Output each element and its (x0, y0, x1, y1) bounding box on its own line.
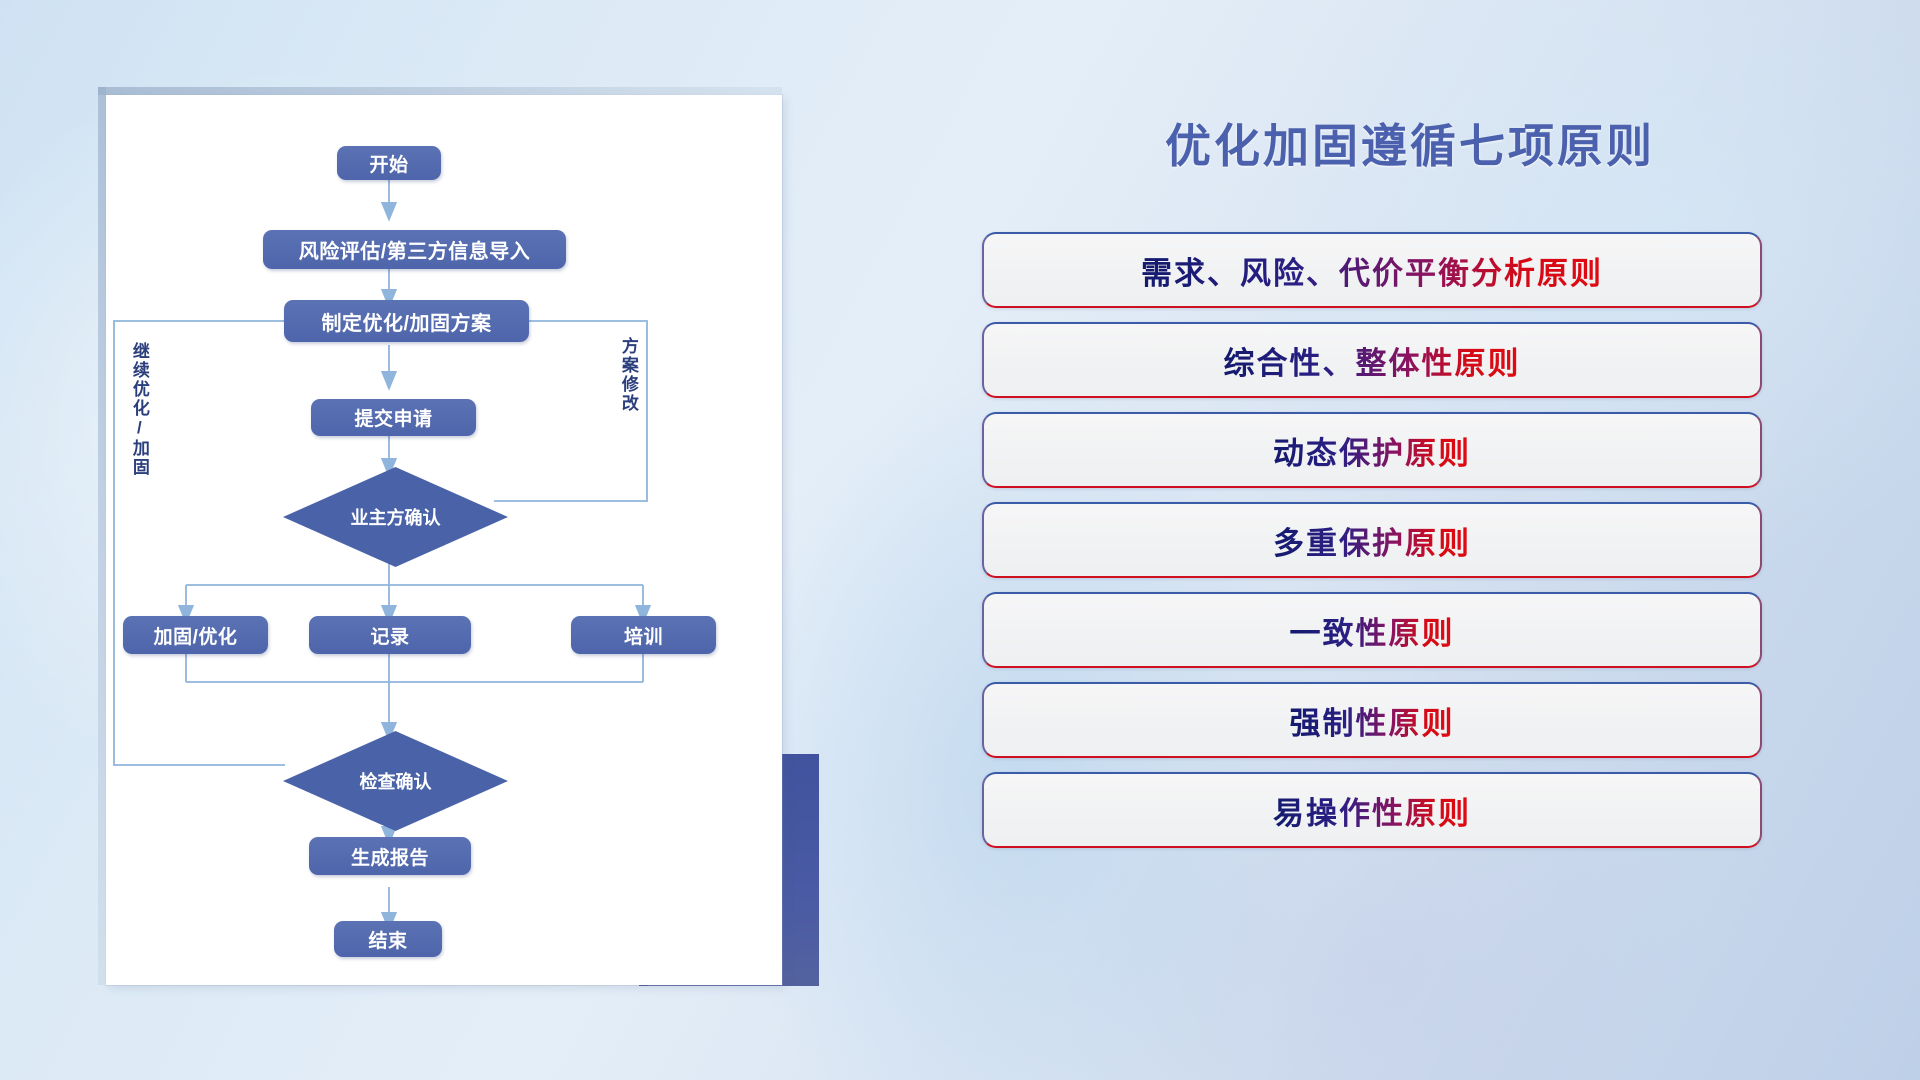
principle-card-6[interactable]: 强制性原则 (982, 682, 1762, 758)
flowchart-panel: 开始 风险评估/第三方信息导入 制定优化/加固方案 提交申请 业主方确认 加固/… (0, 0, 860, 1080)
flow-node-record-label: 记录 (370, 622, 409, 649)
flow-node-record[interactable]: 记录 (309, 616, 471, 654)
principles-list: 需求、风险、代价平衡分析原则 综合性、整体性原则 动态保护原则 多重保护原则 一… (842, 232, 1902, 862)
flow-node-reinforce-label: 加固/优化 (154, 622, 238, 649)
principle-card-2-label: 综合性、整体性原则 (1224, 338, 1521, 383)
flow-node-risk-assessment-label: 风险评估/第三方信息导入 (299, 235, 531, 264)
principle-card-3[interactable]: 动态保护原则 (982, 412, 1762, 488)
flowchart-card: 开始 风险评估/第三方信息导入 制定优化/加固方案 提交申请 业主方确认 加固/… (106, 95, 782, 985)
flow-node-plan-label: 制定优化/加固方案 (321, 307, 491, 336)
principle-card-7-label: 易操作性原则 (1273, 788, 1471, 833)
flow-node-start-label: 开始 (369, 150, 408, 177)
principle-card-5-label: 一致性原则 (1290, 608, 1455, 653)
principle-card-1[interactable]: 需求、风险、代价平衡分析原则 (982, 232, 1762, 308)
flow-node-check-confirm-label: 检查确认 (360, 768, 432, 794)
principles-panel: 优化加固遵循七项原则 需求、风险、代价平衡分析原则 综合性、整体性原则 动态保护… (860, 0, 1920, 1080)
principle-card-4[interactable]: 多重保护原则 (982, 502, 1762, 578)
principle-card-1-label: 需求、风险、代价平衡分析原则 (1141, 248, 1603, 293)
flow-node-owner-confirm-label: 业主方确认 (351, 504, 441, 530)
flow-node-report[interactable]: 生成报告 (309, 837, 471, 875)
principles-title: 优化加固遵循七项原则 (960, 110, 1860, 176)
flow-node-start[interactable]: 开始 (337, 146, 441, 180)
principle-card-4-label: 多重保护原则 (1273, 518, 1471, 563)
flow-node-plan[interactable]: 制定优化/加固方案 (284, 300, 529, 342)
flow-node-report-label: 生成报告 (351, 843, 429, 870)
principle-card-5[interactable]: 一致性原则 (982, 592, 1762, 668)
flow-edge-label-left: 继续优化/加固 (130, 342, 148, 477)
principle-card-3-label: 动态保护原则 (1273, 428, 1471, 473)
flow-node-submit-label: 提交申请 (354, 404, 432, 431)
flow-node-training-label: 培训 (624, 622, 663, 649)
flow-node-end-label: 结束 (368, 926, 407, 953)
flow-node-reinforce[interactable]: 加固/优化 (123, 616, 268, 654)
flow-node-end[interactable]: 结束 (334, 921, 442, 957)
principle-card-2[interactable]: 综合性、整体性原则 (982, 322, 1762, 398)
flow-node-submit[interactable]: 提交申请 (311, 399, 476, 436)
principle-card-6-label: 强制性原则 (1290, 698, 1455, 743)
flow-edge-label-right: 方案修改 (619, 337, 637, 413)
flow-node-training[interactable]: 培训 (571, 616, 716, 654)
principle-card-7[interactable]: 易操作性原则 (982, 772, 1762, 848)
flow-node-risk-assessment[interactable]: 风险评估/第三方信息导入 (263, 230, 566, 269)
